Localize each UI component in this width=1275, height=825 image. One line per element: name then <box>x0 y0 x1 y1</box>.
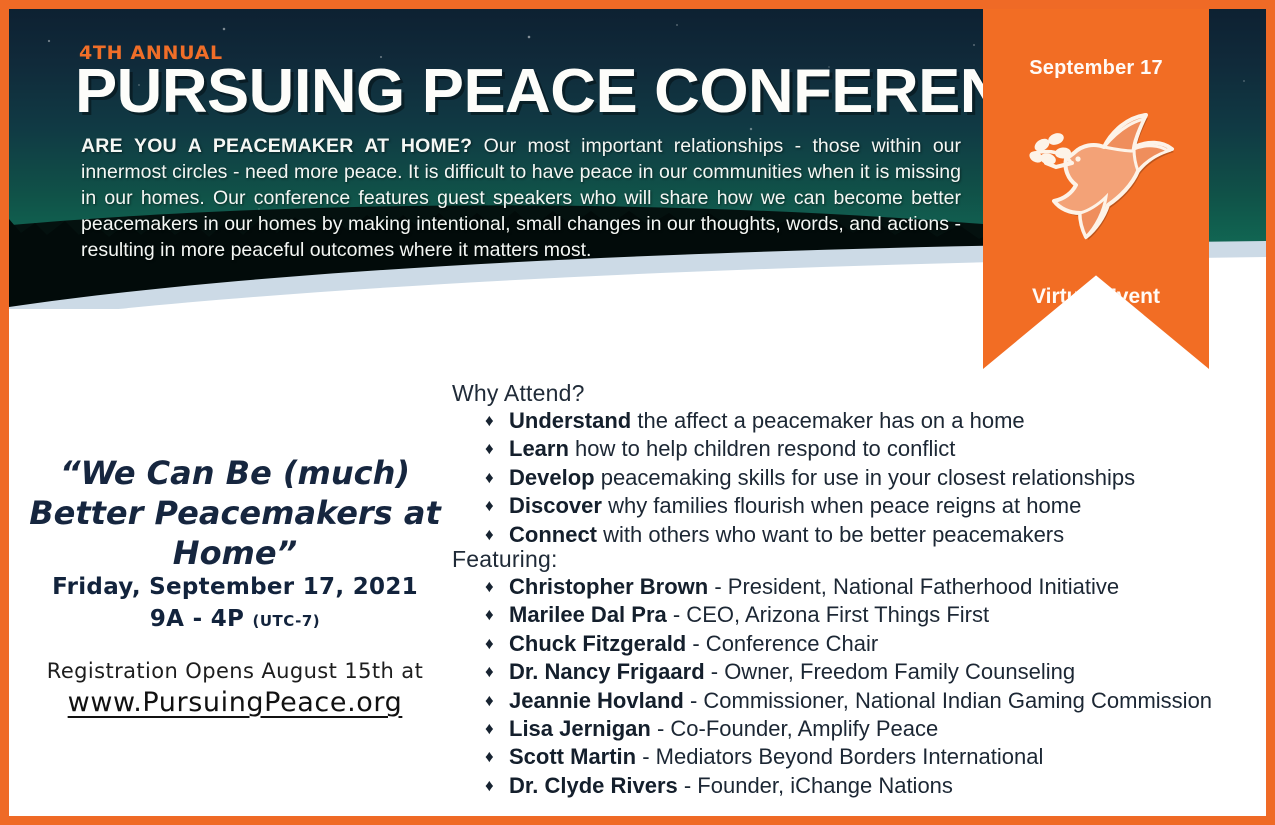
diamond-bullet-icon: ♦ <box>485 573 494 601</box>
speaker-item-lead: Chuck Fitzgerald <box>509 631 686 656</box>
why-attend-item-rest: how to help children respond to conflict <box>569 436 955 461</box>
event-time: 9A - 4P (UTC-7) <box>19 603 451 637</box>
page-title: PURSUING PEACE CONFERENCE <box>75 61 1092 123</box>
why-attend-item: ♦Learn how to help children respond to c… <box>485 435 1135 463</box>
featuring-heading: Featuring: <box>452 545 1212 573</box>
registration-url-link[interactable]: www.PursuingPeace.org <box>68 688 403 718</box>
why-attend-item: ♦Understand the affect a peacemaker has … <box>485 407 1135 435</box>
why-attend-item-lead: Understand <box>509 408 631 433</box>
event-datetime: Friday, September 17, 2021 9A - 4P (UTC-… <box>19 571 451 637</box>
diamond-bullet-icon: ♦ <box>485 630 494 658</box>
speaker-item: ♦Marilee Dal Pra - CEO, Arizona First Th… <box>485 601 1212 629</box>
event-time-range: 9A - 4P <box>150 606 244 632</box>
diamond-bullet-icon: ♦ <box>485 687 494 715</box>
speaker-item: ♦Lisa Jernigan - Co-Founder, Amplify Pea… <box>485 715 1212 743</box>
why-attend-item-lead: Discover <box>509 493 602 518</box>
why-attend-item-lead: Develop <box>509 465 595 490</box>
speaker-item: ♦Chuck Fitzgerald - Conference Chair <box>485 630 1212 658</box>
why-attend-item-rest: the affect a peacemaker has on a home <box>631 408 1024 433</box>
diamond-bullet-icon: ♦ <box>485 601 494 629</box>
speaker-item-rest: - President, National Fatherhood Initiat… <box>708 574 1119 599</box>
speaker-item-rest: - Founder, iChange Nations <box>678 773 953 798</box>
diamond-bullet-icon: ♦ <box>485 435 494 463</box>
speaker-item-rest: - Conference Chair <box>686 631 878 656</box>
speaker-item-lead: Lisa Jernigan <box>509 716 651 741</box>
speaker-item: ♦Dr. Nancy Frigaard - Owner, Freedom Fam… <box>485 658 1212 686</box>
speaker-list: ♦Christopher Brown - President, National… <box>452 573 1212 800</box>
why-attend-item-rest: peacemaking skills for use in your close… <box>595 465 1135 490</box>
banner-description: ARE YOU A PEACEMAKER AT HOME? Our most i… <box>81 133 961 263</box>
event-date: Friday, September 17, 2021 <box>19 571 451 603</box>
conference-theme-quote: “We Can Be (much) Better Peacemakers at … <box>19 453 451 573</box>
why-attend-heading: Why Attend? <box>452 379 1135 407</box>
speaker-item-rest: - Mediators Beyond Borders International <box>636 744 1043 769</box>
speaker-item-lead: Dr. Nancy Frigaard <box>509 659 705 684</box>
speaker-item: ♦Dr. Clyde Rivers - Founder, iChange Nat… <box>485 772 1212 800</box>
speaker-item: ♦Scott Martin - Mediators Beyond Borders… <box>485 743 1212 771</box>
registration-info: Registration Opens August 15th at www.Pu… <box>19 656 451 719</box>
speaker-item-lead: Christopher Brown <box>509 574 708 599</box>
event-timezone: (UTC-7) <box>253 612 321 630</box>
featuring-section: Featuring: ♦Christopher Brown - Presiden… <box>452 545 1212 800</box>
speaker-item-rest: - Co-Founder, Amplify Peace <box>651 716 938 741</box>
speaker-item-lead: Dr. Clyde Rivers <box>509 773 678 798</box>
registration-note: Registration Opens August 15th at <box>19 656 451 686</box>
speaker-item-rest: - CEO, Arizona First Things First <box>667 602 989 627</box>
event-ribbon: September 17 <box>983 9 1209 369</box>
why-attend-item: ♦Develop peacemaking skills for use in y… <box>485 464 1135 492</box>
why-attend-item-rest: why families flourish when peace reigns … <box>602 493 1081 518</box>
speaker-item-lead: Scott Martin <box>509 744 636 769</box>
why-attend-item-lead: Learn <box>509 436 569 461</box>
diamond-bullet-icon: ♦ <box>485 492 494 520</box>
speaker-item-lead: Marilee Dal Pra <box>509 602 667 627</box>
blurb-lead: ARE YOU A PEACEMAKER AT HOME? <box>81 135 472 157</box>
conference-flyer: 4TH ANNUAL PURSUING PEACE CONFERENCE ARE… <box>0 0 1275 825</box>
why-attend-section: Why Attend? ♦Understand the affect a pea… <box>452 379 1135 549</box>
diamond-bullet-icon: ♦ <box>485 464 494 492</box>
why-attend-item: ♦Discover why families flourish when pea… <box>485 492 1135 520</box>
dove-icon <box>1016 101 1176 251</box>
speaker-item-lead: Jeannie Hovland <box>509 688 684 713</box>
speaker-item: ♦Christopher Brown - President, National… <box>485 573 1212 601</box>
diamond-bullet-icon: ♦ <box>485 658 494 686</box>
ribbon-date: September 17 <box>983 57 1209 80</box>
why-attend-item-rest: with others who want to be better peacem… <box>597 522 1064 547</box>
speaker-item: ♦Jeannie Hovland - Commissioner, Nationa… <box>485 687 1212 715</box>
diamond-bullet-icon: ♦ <box>485 407 494 435</box>
speaker-item-rest: - Owner, Freedom Family Counseling <box>705 659 1075 684</box>
speaker-item-rest: - Commissioner, National Indian Gaming C… <box>684 688 1212 713</box>
why-attend-list: ♦Understand the affect a peacemaker has … <box>452 407 1135 549</box>
diamond-bullet-icon: ♦ <box>485 715 494 743</box>
diamond-bullet-icon: ♦ <box>485 743 494 771</box>
diamond-bullet-icon: ♦ <box>485 772 494 800</box>
why-attend-item-lead: Connect <box>509 522 597 547</box>
